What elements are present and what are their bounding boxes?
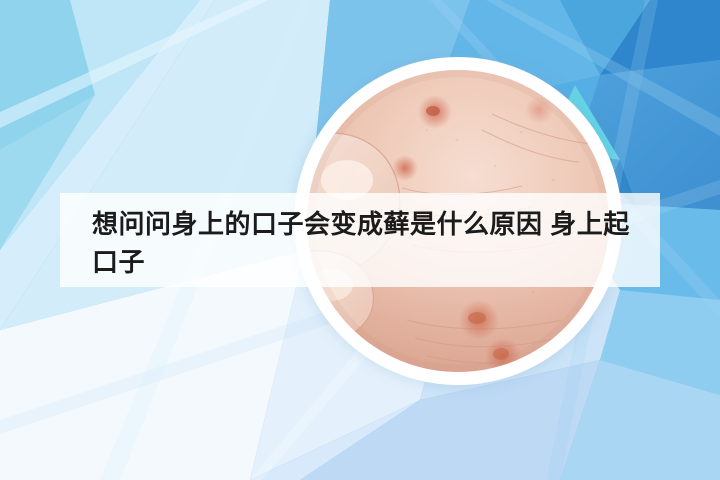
skin-lesion xyxy=(392,155,418,181)
thumbnail-card: 想问问身上的口子会变成藓是什么原因 身上起口子 xyxy=(0,0,720,480)
page-title: 想问问身上的口子会变成藓是什么原因 身上起口子 xyxy=(92,205,644,281)
